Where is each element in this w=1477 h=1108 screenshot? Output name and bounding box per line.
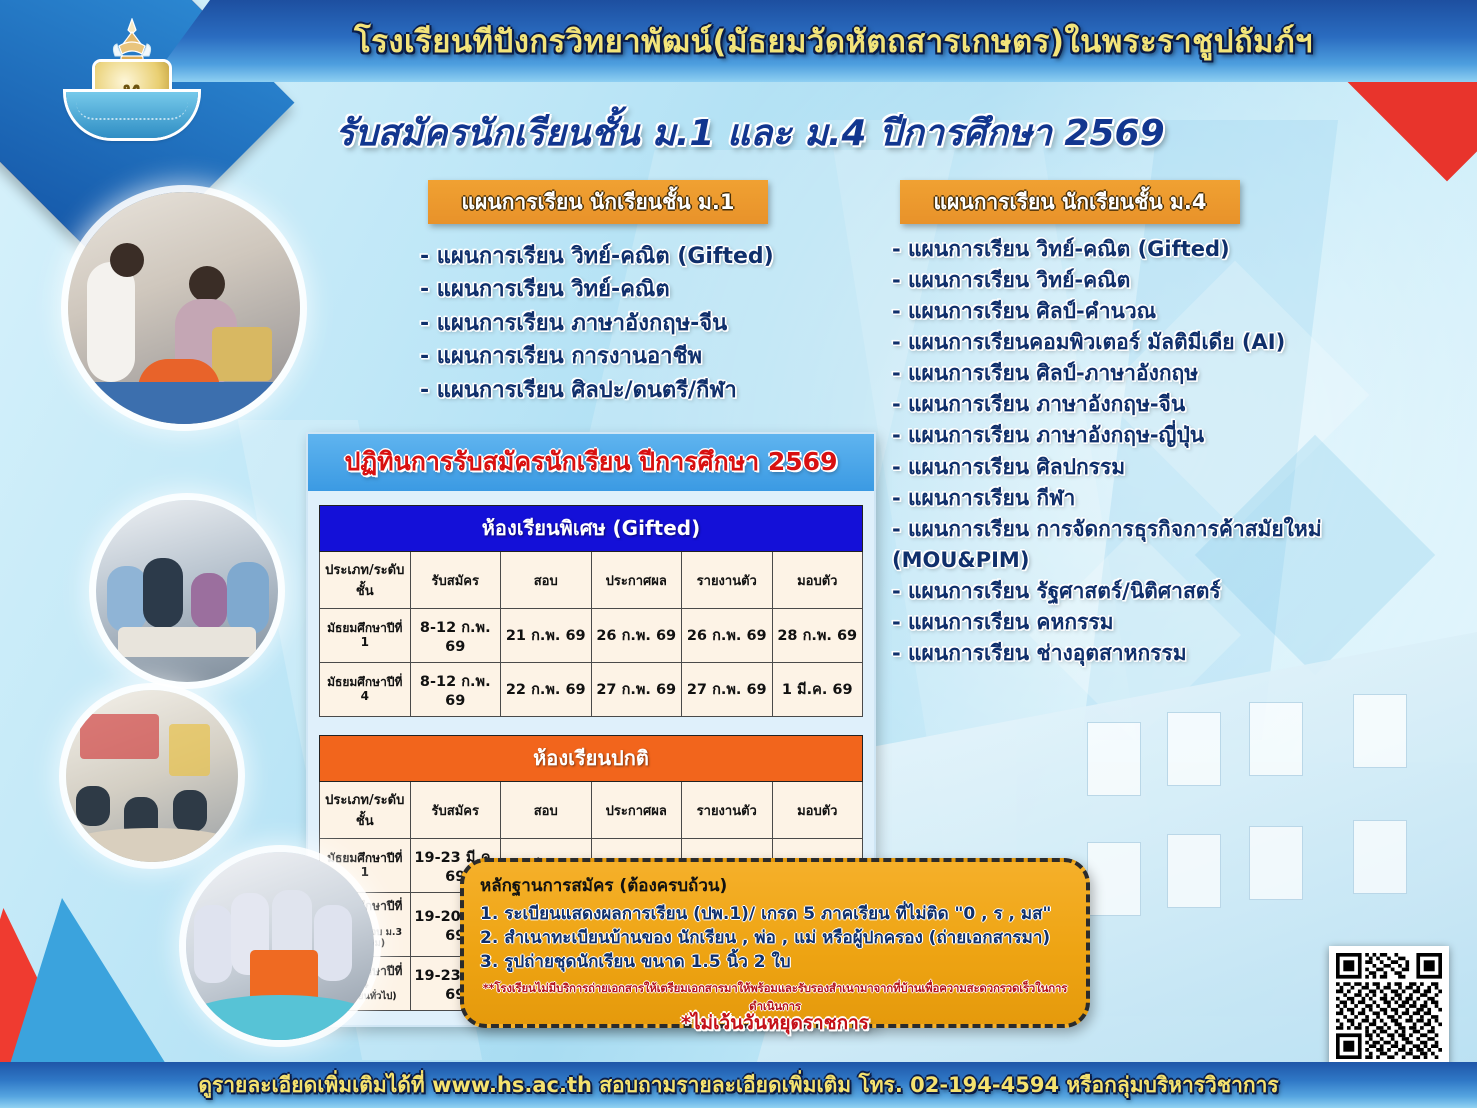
column-header: สอบ [501,782,592,839]
qr-code-graphic [1336,953,1442,1059]
page-title: รับสมัครนักเรียนชั้น ม.1 และ ม.4 ปีการศึ… [300,104,1200,161]
column-header: สอบ [501,552,592,609]
result-cell: 27 ก.พ. 69 [591,663,682,717]
list-item: - แผนการเรียน ศิลป์-คำนวณ [892,296,1452,327]
list-item: - แผนการเรียน ศิลปะ/ดนตรี/กีฬา [420,374,890,407]
enroll-cell: 1 มี.ค. 69 [772,663,863,717]
holiday-note: *ไม่เว้นวันหยุดราชการ [600,1008,950,1038]
column-header: ประเภท/ระดับชั้น [320,552,411,609]
column-header: รับสมัคร [410,782,501,839]
column-header: รับสมัคร [410,552,501,609]
table-header-row: ประเภท/ระดับชั้น รับสมัคร สอบ ประกาศผล ร… [320,552,863,609]
m1-program-header: แผนการเรียน นักเรียนชั้น ม.1 [428,180,768,224]
report-cell: 26 ก.พ. 69 [682,609,773,663]
required-documents-box: หลักฐานการสมัคร (ต้องครบถ้วน) 1. ระเบียน… [460,858,1090,1028]
school-emblem: ท [62,18,202,143]
admission-poster: โรงเรียนทีปังกรวิทยาพัฒน์(มัธยมวัดหัตถสา… [0,0,1477,1108]
list-item: - แผนการเรียน ช่างอุตสาหกรรม [892,638,1452,669]
list-item: - แผนการเรียน ศิลป์-ภาษาอังกฤษ [892,358,1452,389]
footer-text: ดูรายละเอียดเพิ่มเติมได้ที่ www.hs.ac.th… [198,1069,1278,1102]
school-name-text: โรงเรียนทีปังกรวิทยาพัฒน์(มัธยมวัดหัตถสา… [314,16,1313,66]
column-header: รายงานตัว [682,782,773,839]
emblem-ribbon [66,92,198,138]
table-row: มัธยมศึกษาปีที่ 1 8-12 ก.พ. 69 21 ก.พ. 6… [320,609,863,663]
royal-crown-icon [101,18,163,68]
photo-classroom [66,690,238,862]
column-header: ประเภท/ระดับชั้น [320,782,411,839]
exam-cell: 21 ก.พ. 69 [501,609,592,663]
m4-program-header: แผนการเรียน นักเรียนชั้น ม.4 [900,180,1240,224]
report-cell: 27 ก.พ. 69 [682,663,773,717]
list-item: - แผนการเรียนคอมพิวเตอร์ มัลติมีเดีย (AI… [892,327,1452,358]
document-item: 1. ระเบียนแสดงผลการเรียน (ปพ.1)/ เกรด 5 … [480,902,1070,926]
document-item: 3. รูปถ่ายชุดนักเรียน ขนาด 1.5 นิ้ว 2 ใบ [480,950,1070,974]
list-item: - แผนการเรียน กีฬา [892,483,1452,514]
apply-cell: 8-12 ก.พ. 69 [410,663,501,717]
list-item: - แผนการเรียน ภาษาอังกฤษ-ญี่ปุ่น [892,420,1452,451]
gifted-section-title: ห้องเรียนพิเศษ (Gifted) [320,506,863,552]
column-header: รายงานตัว [682,552,773,609]
list-item: - แผนการเรียน คหกรรม [892,607,1452,638]
apply-cell: 8-12 ก.พ. 69 [410,609,501,663]
table-header-row: ประเภท/ระดับชั้น รับสมัคร สอบ ประกาศผล ร… [320,782,863,839]
document-item: 2. สำเนาทะเบียนบ้านของ นักเรียน , พ่อ , … [480,926,1070,950]
result-cell: 26 ก.พ. 69 [591,609,682,663]
normal-section-title: ห้องเรียนปกติ [320,736,863,782]
column-header: มอบตัว [772,782,863,839]
qr-code[interactable] [1329,946,1449,1066]
gifted-schedule-table: ห้องเรียนพิเศษ (Gifted) ประเภท/ระดับชั้น… [319,505,863,717]
list-item: - แผนการเรียน วิทย์-คณิต [420,273,890,306]
enroll-cell: 28 ก.พ. 69 [772,609,863,663]
m4-program-list: - แผนการเรียน วิทย์-คณิต (Gifted) - แผนก… [892,234,1452,669]
list-item: - แผนการเรียน วิทย์-คณิต [892,265,1452,296]
column-header: ประกาศผล [591,552,682,609]
photo-ceremony [68,192,300,424]
column-header: ประกาศผล [591,782,682,839]
level-cell: มัธยมศึกษาปีที่ 1 [320,609,411,663]
m1-program-list: - แผนการเรียน วิทย์-คณิต (Gifted) - แผนก… [420,240,890,407]
list-item: - แผนการเรียน ภาษาอังกฤษ-จีน [892,389,1452,420]
list-item: - แผนการเรียน วิทย์-คณิต (Gifted) [892,234,1452,265]
column-header: มอบตัว [772,552,863,609]
contact-footer: ดูรายละเอียดเพิ่มเติมได้ที่ www.hs.ac.th… [0,1062,1477,1108]
list-item: - แผนการเรียน การจัดการธุรกิจการค้าสมัยใ… [892,514,1452,576]
list-item: - แผนการเรียน วิทย์-คณิต (Gifted) [420,240,890,273]
list-item: - แผนการเรียน ภาษาอังกฤษ-จีน [420,307,890,340]
level-cell: มัธยมศึกษาปีที่ 4 [320,663,411,717]
list-item: - แผนการเรียน ศิลปกรรม [892,452,1452,483]
list-item: - แผนการเรียน การงานอาชีพ [420,340,890,373]
calendar-title: ปฏิทินการรับสมัครนักเรียน ปีการศึกษา 256… [308,434,874,491]
exam-cell: 22 ก.พ. 69 [501,663,592,717]
school-name-banner: โรงเรียนทีปังกรวิทยาพัฒน์(มัธยมวัดหัตถสา… [150,0,1477,82]
list-item: - แผนการเรียน รัฐศาสตร์/นิติศาสตร์ [892,576,1452,607]
table-row: มัธยมศึกษาปีที่ 4 8-12 ก.พ. 69 22 ก.พ. 6… [320,663,863,717]
photo-workshop [96,500,278,682]
documents-title: หลักฐานการสมัคร (ต้องครบถ้วน) [480,872,1070,899]
photo-3d-printer-lab [186,852,374,1040]
